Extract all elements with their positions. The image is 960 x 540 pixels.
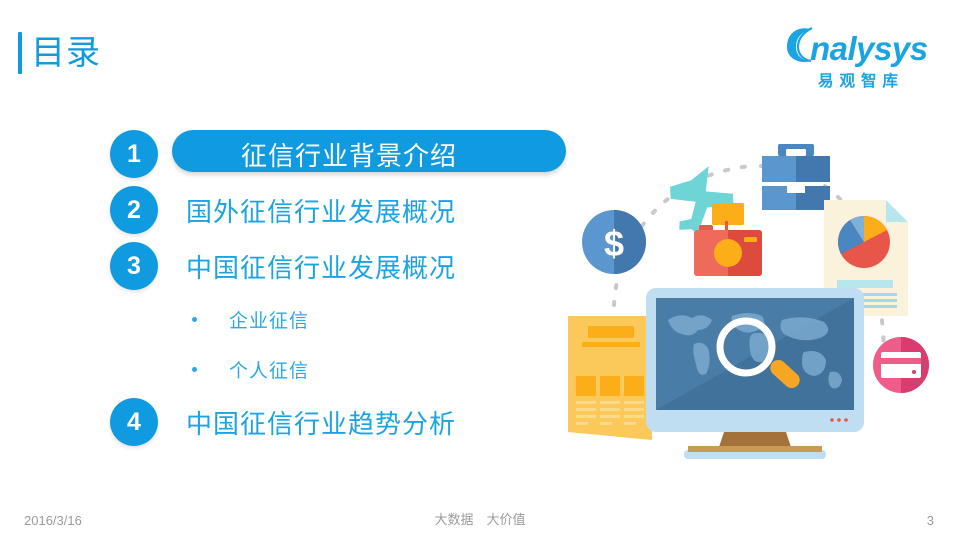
pie-chart-icon <box>838 216 890 268</box>
toc-item-3-number: 3 <box>110 242 158 290</box>
toc-subitem-1-label: 企业征信 <box>229 306 309 333</box>
credit-card-icon <box>873 337 929 393</box>
toc-list: 1 征信行业背景介绍 2 国外征信行业发展概况 3 中国征信行业发展概况 企业征… <box>110 126 590 450</box>
title-label: 目录 <box>31 36 101 70</box>
monitor-indicator-dots-icon <box>830 418 848 422</box>
page-title: 目录 <box>18 32 101 74</box>
toc-item-2[interactable]: 2 国外征信行业发展概况 <box>110 182 590 238</box>
toc-item-1[interactable]: 1 征信行业背景介绍 <box>110 126 590 182</box>
bullet-dot-icon <box>192 317 197 322</box>
footer-page-number: 3 <box>927 513 934 528</box>
dollar-coin-icon: $ <box>582 210 646 274</box>
toc-item-2-number: 2 <box>110 186 158 234</box>
toc-subitem-2-label: 个人征信 <box>229 356 309 383</box>
illustration: $ <box>556 120 956 480</box>
toc-item-4[interactable]: 4 中国征信行业趋势分析 <box>110 394 590 450</box>
logo-wordmark-icon: nalysys <box>784 24 932 68</box>
title-accent-bar <box>18 32 22 74</box>
toc-item-3[interactable]: 3 中国征信行业发展概况 <box>110 238 590 294</box>
toc-subitem-2[interactable]: 个人征信 <box>110 344 590 394</box>
analysys-logo: nalysys 易观智库 <box>784 24 932 90</box>
toc-item-1-label: 征信行业背景介绍 <box>241 136 457 173</box>
briefcase-icon <box>762 144 830 210</box>
slide-root: 目录 nalysys 易观智库 1 征信行业背景介绍 2 国外征信行业发展概况 … <box>0 0 960 540</box>
newspaper-icon <box>568 316 652 440</box>
logo-subtitle: 易观智库 <box>784 69 932 91</box>
svg-text:nalysys: nalysys <box>810 30 928 67</box>
toc-item-3-label: 中国征信行业发展概况 <box>186 248 456 285</box>
monitor-world-map-icon <box>646 288 864 459</box>
footer-tagline: 大数据 大价值 <box>0 509 960 528</box>
illustration-svg: $ <box>556 120 956 480</box>
toc-item-4-label: 中国征信行业趋势分析 <box>186 404 456 441</box>
toc-item-1-number: 1 <box>110 130 158 178</box>
toc-item-2-label: 国外征信行业发展概况 <box>186 192 456 229</box>
svg-text:$: $ <box>604 223 624 264</box>
toc-item-4-number: 4 <box>110 398 158 446</box>
toc-subitem-1[interactable]: 企业征信 <box>110 294 590 344</box>
bullet-dot-icon <box>192 367 197 372</box>
